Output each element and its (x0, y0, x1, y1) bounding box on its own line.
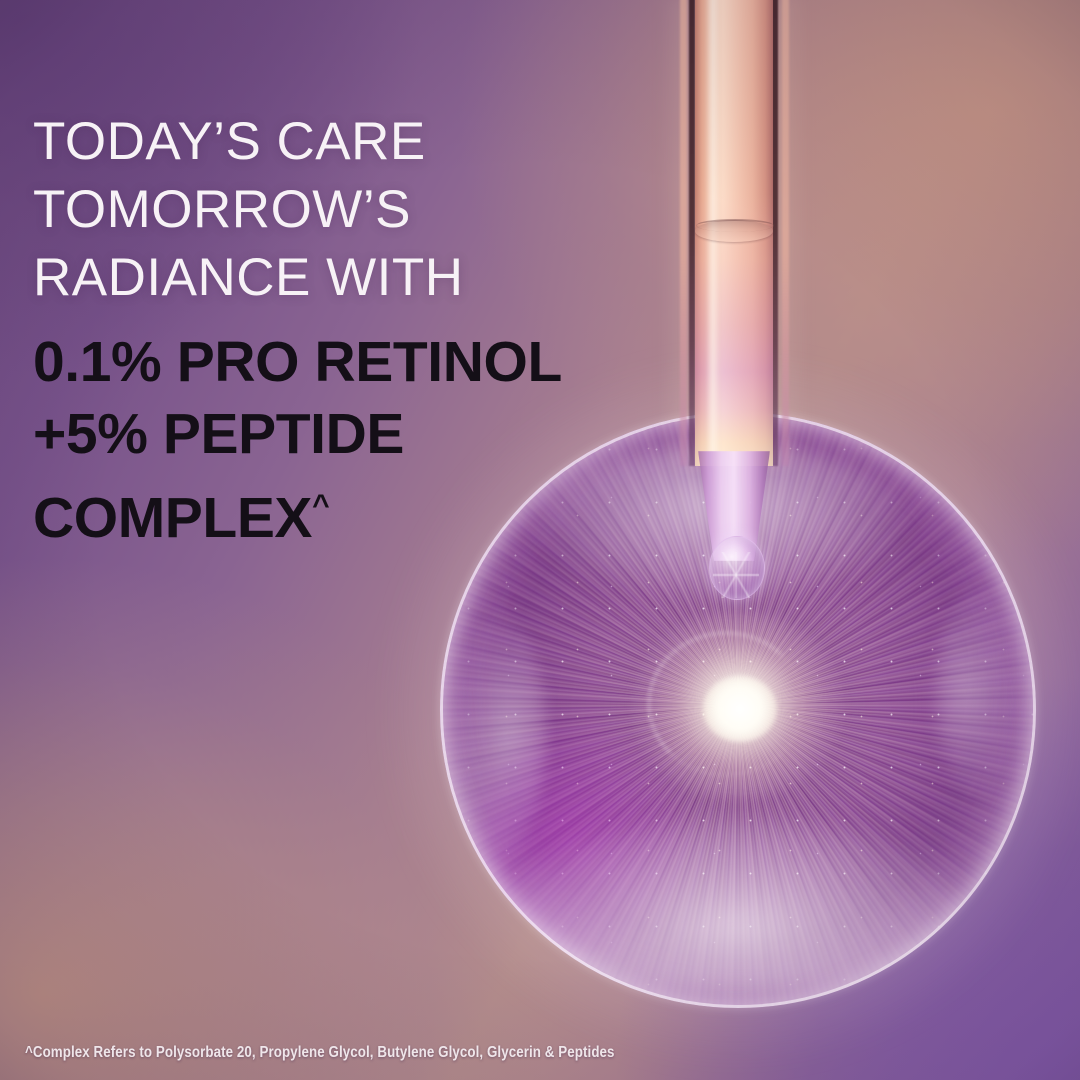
ad-creative: TODAY’S CARE TOMORROW’S RADIANCE WITH 0.… (0, 0, 1080, 1080)
headline: TODAY’S CARE TOMORROW’S RADIANCE WITH (33, 108, 713, 312)
footnote-marker-icon: ^ (312, 489, 330, 522)
footnote-disclaimer: ^Complex Refers to Polysorbate 20, Propy… (25, 1043, 615, 1063)
copy-block: TODAY’S CARE TOMORROW’S RADIANCE WITH 0.… (33, 108, 713, 554)
subhead-text: 0.1% PRO RETINOL +5% PEPTIDE COMPLEX (33, 330, 562, 550)
subhead-claim: 0.1% PRO RETINOL +5% PEPTIDE COMPLEX^ (33, 312, 713, 554)
